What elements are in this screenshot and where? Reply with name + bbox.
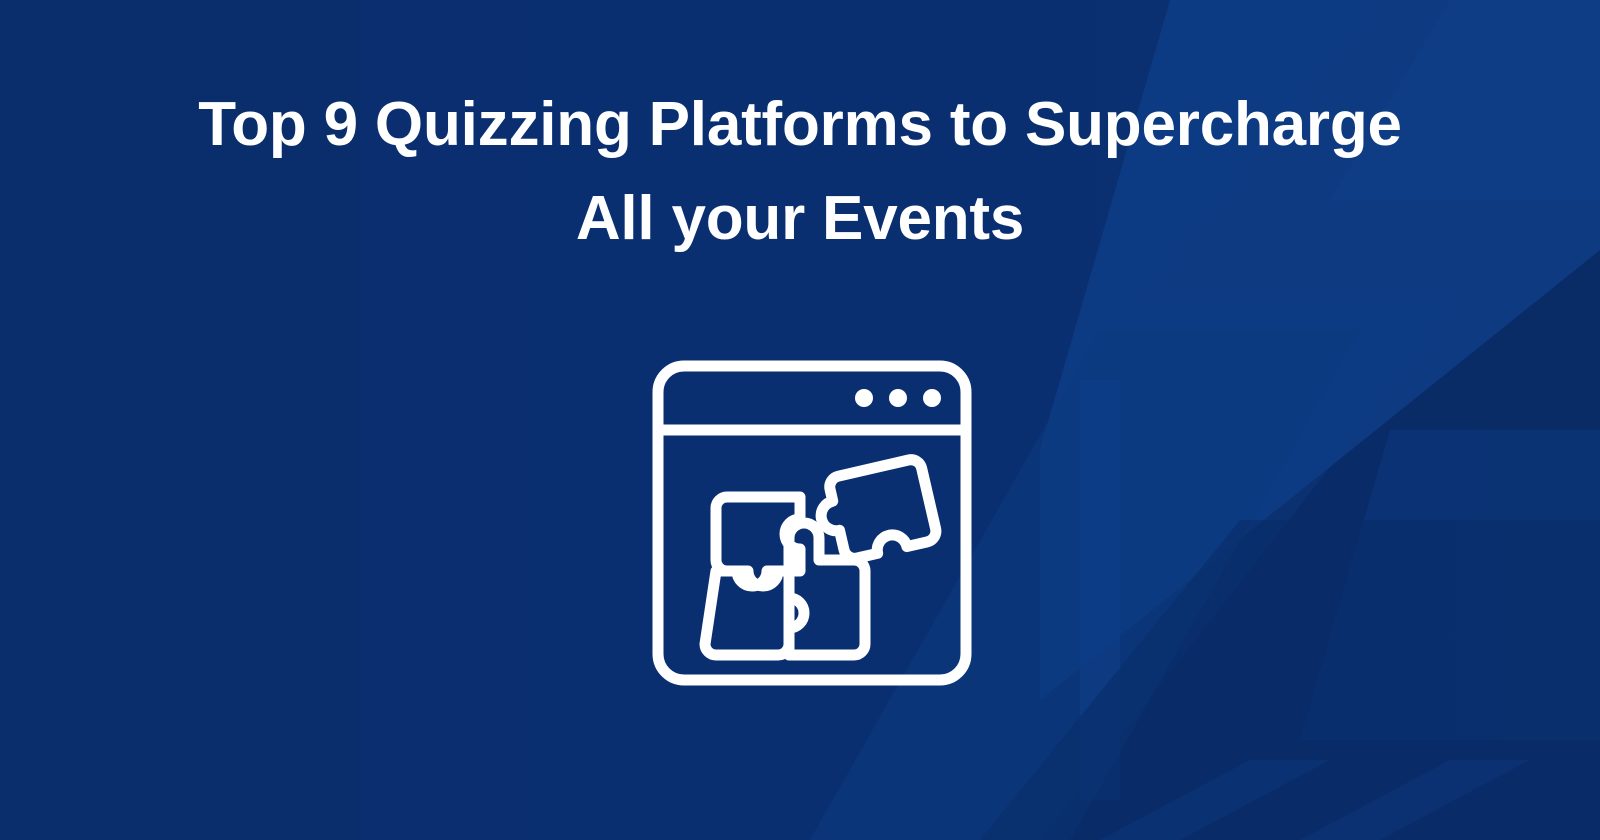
puzzle-piece-bottom-right	[789, 523, 865, 655]
browser-dot-3	[923, 389, 941, 407]
page-title-line-1: Top 9 Quizzing Platforms to Supercharge	[60, 78, 1540, 172]
page-title-line-2: All your Events	[60, 172, 1540, 266]
background-right-block	[1300, 430, 1600, 740]
browser-dot-2	[889, 389, 907, 407]
browser-dot-1	[855, 389, 873, 407]
background-thin-diagonal-b	[1300, 760, 1530, 840]
background-bottom-sweep	[980, 520, 1600, 840]
browser-titlebar-dots	[855, 389, 941, 407]
background-band-lip	[1080, 380, 1120, 800]
puzzle-piece-detached	[813, 458, 938, 564]
page-title: Top 9 Quizzing Platforms to Supercharge …	[0, 78, 1600, 266]
background-thin-diagonal-a	[1100, 760, 1330, 840]
browser-window-puzzle-icon-svg	[650, 358, 974, 688]
browser-window-puzzle-icon	[650, 358, 974, 688]
hero-banner: Top 9 Quizzing Platforms to Supercharge …	[0, 0, 1600, 840]
